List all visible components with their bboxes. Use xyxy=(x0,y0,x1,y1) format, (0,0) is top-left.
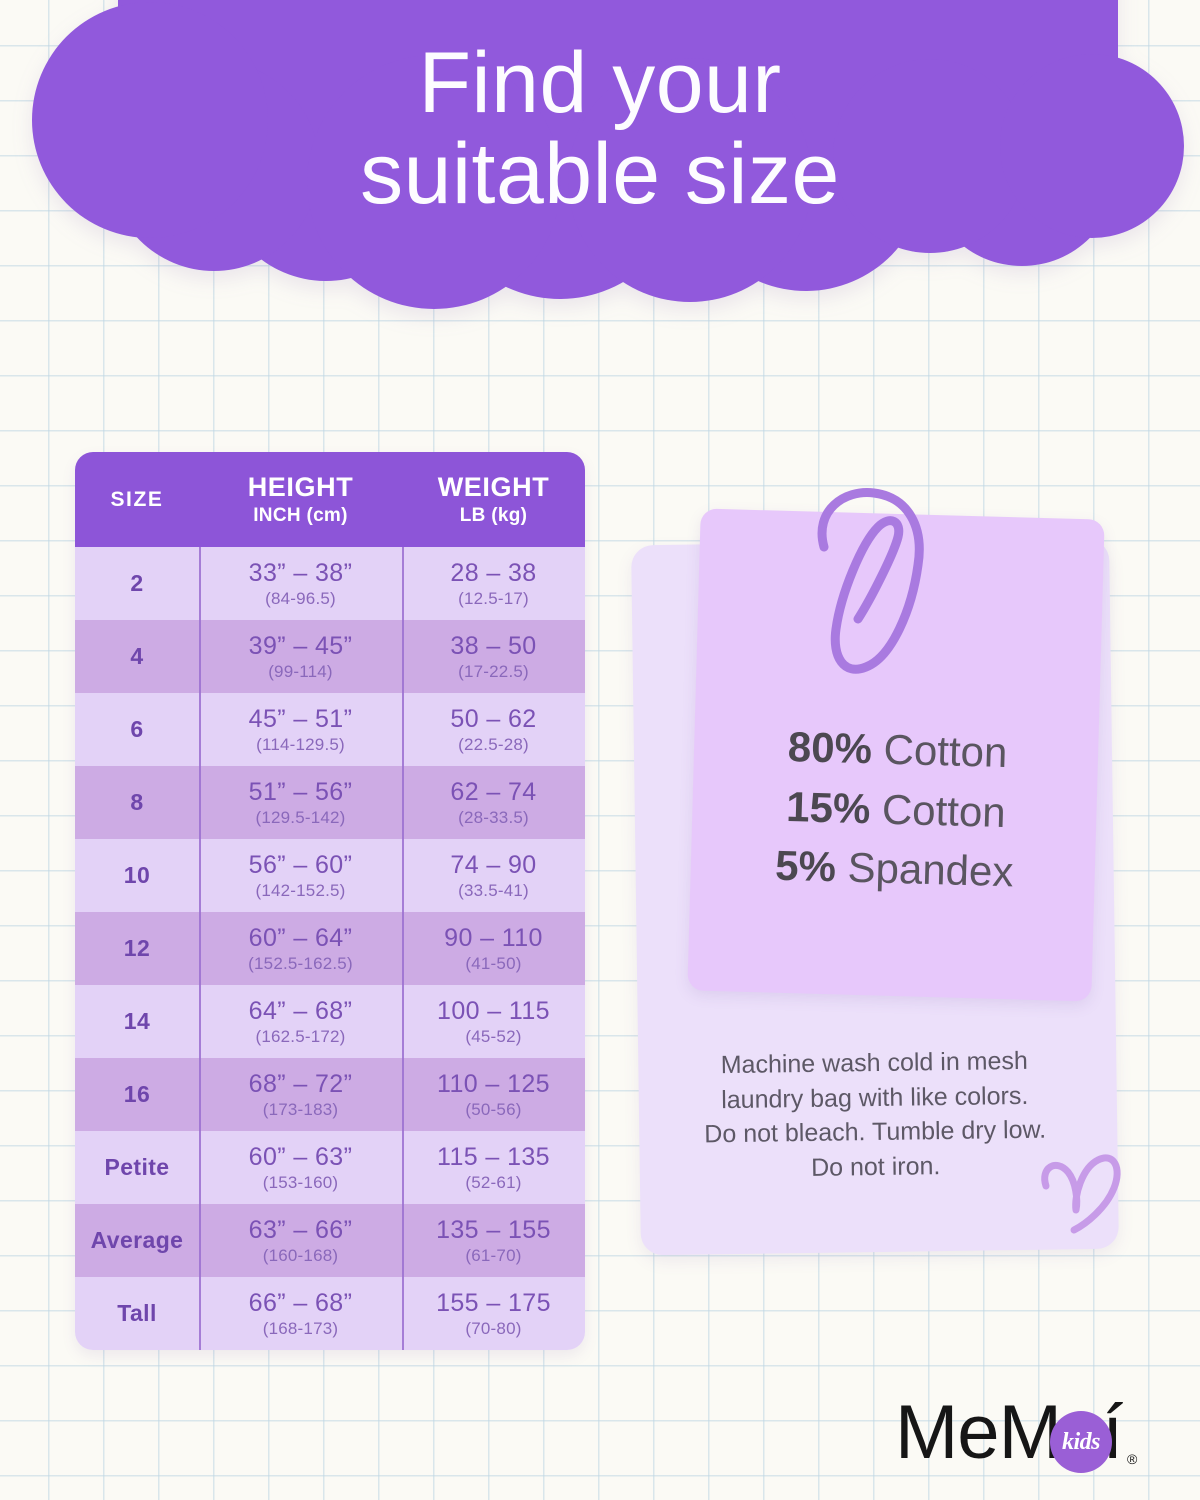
table-header-row: SIZE HEIGHT INCH (cm) WEIGHT LB (kg) xyxy=(75,452,585,547)
height-inches: 60” – 63” xyxy=(249,1143,353,1172)
cell-height: 66” – 68”(168-173) xyxy=(199,1277,402,1350)
table-row: Average63” – 66”(160-168)135 – 155(61-70… xyxy=(75,1204,585,1277)
weight-lb: 155 – 175 xyxy=(436,1289,551,1318)
cell-weight: 74 – 90(33.5-41) xyxy=(402,839,585,912)
weight-lb: 62 – 74 xyxy=(450,778,536,807)
weight-kg: (33.5-41) xyxy=(458,881,529,901)
weight-kg: (45-52) xyxy=(465,1027,521,1047)
size-chart-table: SIZE HEIGHT INCH (cm) WEIGHT LB (kg) 233… xyxy=(75,452,585,1350)
cell-size: 8 xyxy=(75,766,199,839)
weight-lb: 90 – 110 xyxy=(444,924,543,953)
size-label: Average xyxy=(91,1227,184,1254)
brand-logo: MeMoí kids ® xyxy=(895,1385,1145,1481)
table-row: 233” – 38”(84-96.5)28 – 38(12.5-17) xyxy=(75,547,585,620)
cell-height: 33” – 38”(84-96.5) xyxy=(199,547,402,620)
cell-weight: 90 – 110(41-50) xyxy=(402,912,585,985)
height-cm: (173-183) xyxy=(263,1100,339,1120)
fabric-percent: 80% xyxy=(787,723,872,772)
height-inches: 60” – 64” xyxy=(249,924,353,953)
cell-height: 51” – 56”(129.5-142) xyxy=(199,766,402,839)
size-label: 12 xyxy=(124,935,150,962)
weight-lb: 74 – 90 xyxy=(450,851,536,880)
fabric-material: Cotton xyxy=(883,726,1008,776)
size-label: 14 xyxy=(124,1008,150,1035)
cell-height: 60” – 64”(152.5-162.5) xyxy=(199,912,402,985)
weight-kg: (50-56) xyxy=(465,1100,521,1120)
fabric-composition-list: 80% Cotton 15% Cotton 5% Spandex xyxy=(692,714,1101,904)
height-inches: 33” – 38” xyxy=(249,559,353,588)
height-cm: (142-152.5) xyxy=(255,881,345,901)
weight-kg: (61-70) xyxy=(465,1246,521,1266)
weight-kg: (70-80) xyxy=(465,1319,521,1339)
size-label: 4 xyxy=(130,643,143,670)
cell-weight: 62 – 74(28-33.5) xyxy=(402,766,585,839)
size-label: Petite xyxy=(104,1154,169,1181)
size-label: 10 xyxy=(124,862,150,889)
kids-badge-label: kids xyxy=(1062,1429,1100,1456)
table-row: 439” – 45”(99-114)38 – 50(17-22.5) xyxy=(75,620,585,693)
height-cm: (114-129.5) xyxy=(256,735,345,755)
table-row: 1668” – 72”(173-183)110 – 125(50-56) xyxy=(75,1058,585,1131)
height-inches: 64” – 68” xyxy=(249,997,353,1026)
weight-kg: (17-22.5) xyxy=(458,662,529,682)
height-cm: (99-114) xyxy=(268,662,333,682)
fabric-percent: 15% xyxy=(786,783,871,832)
weight-kg: (52-61) xyxy=(465,1173,521,1193)
fabric-line: 15% Cotton xyxy=(693,774,1099,845)
kids-badge: kids xyxy=(1050,1411,1112,1473)
height-inches: 63” – 66” xyxy=(249,1216,353,1245)
size-label: 8 xyxy=(130,789,143,816)
height-cm: (129.5-142) xyxy=(255,808,345,828)
paperclip-icon xyxy=(800,487,960,692)
table-row: 645” – 51”(114-129.5)50 – 62(22.5-28) xyxy=(75,693,585,766)
column-header-weight: WEIGHT LB (kg) xyxy=(402,452,585,547)
weight-lb: 38 – 50 xyxy=(450,632,536,661)
infographic-page: Find your suitable size SIZE HEIGHT INCH… xyxy=(0,0,1200,1500)
cell-size: Petite xyxy=(75,1131,199,1204)
weight-lb: 135 – 155 xyxy=(436,1216,551,1245)
height-inches: 68” – 72” xyxy=(249,1070,353,1099)
cell-size: 12 xyxy=(75,912,199,985)
height-inches: 45” – 51” xyxy=(249,705,353,734)
weight-lb: 50 – 62 xyxy=(450,705,536,734)
fabric-line: 5% Spandex xyxy=(692,834,1098,905)
table-row: Petite60” – 63”(153-160)115 – 135(52-61) xyxy=(75,1131,585,1204)
cell-size: Tall xyxy=(75,1277,199,1350)
cell-size: 6 xyxy=(75,693,199,766)
cell-height: 63” – 66”(160-168) xyxy=(199,1204,402,1277)
height-cm: (152.5-162.5) xyxy=(248,954,353,974)
cell-height: 39” – 45”(99-114) xyxy=(199,620,402,693)
fabric-material: Spandex xyxy=(847,844,1014,896)
weight-lb: 110 – 125 xyxy=(437,1070,550,1099)
weight-kg: (28-33.5) xyxy=(458,808,529,828)
cell-height: 56” – 60”(142-152.5) xyxy=(199,839,402,912)
size-label: Tall xyxy=(117,1300,157,1327)
cell-size: 2 xyxy=(75,547,199,620)
table-row: 1464” – 68”(162.5-172)100 – 115(45-52) xyxy=(75,985,585,1058)
weight-lb: 28 – 38 xyxy=(450,559,536,588)
cell-size: 10 xyxy=(75,839,199,912)
height-cm: (84-96.5) xyxy=(265,589,336,609)
height-cm: (162.5-172) xyxy=(255,1027,345,1047)
height-cm: (168-173) xyxy=(263,1319,339,1339)
weight-lb: 115 – 135 xyxy=(437,1143,550,1172)
table-row: 851” – 56”(129.5-142)62 – 74(28-33.5) xyxy=(75,766,585,839)
cell-height: 45” – 51”(114-129.5) xyxy=(199,693,402,766)
fabric-line: 80% Cotton xyxy=(695,714,1101,785)
size-label: 2 xyxy=(130,570,143,597)
column-header-height: HEIGHT INCH (cm) xyxy=(199,452,402,547)
cell-size: 16 xyxy=(75,1058,199,1131)
heart-icon xyxy=(1034,1148,1130,1249)
height-cm: (160-168) xyxy=(263,1246,339,1266)
cell-weight: 100 – 115(45-52) xyxy=(402,985,585,1058)
column-header-size: SIZE xyxy=(75,452,199,547)
cell-size: 4 xyxy=(75,620,199,693)
height-inches: 66” – 68” xyxy=(249,1289,353,1318)
cell-size: Average xyxy=(75,1204,199,1277)
cell-height: 68” – 72”(173-183) xyxy=(199,1058,402,1131)
height-cm: (153-160) xyxy=(263,1173,339,1193)
cell-weight: 115 – 135(52-61) xyxy=(402,1131,585,1204)
weight-kg: (12.5-17) xyxy=(458,589,529,609)
weight-lb: 100 – 115 xyxy=(437,997,550,1026)
height-inches: 39” – 45” xyxy=(249,632,353,661)
page-title: Find your suitable size xyxy=(0,38,1200,220)
cell-weight: 38 – 50(17-22.5) xyxy=(402,620,585,693)
cell-weight: 110 – 125(50-56) xyxy=(402,1058,585,1131)
height-inches: 56” – 60” xyxy=(249,851,353,880)
table-row: Tall66” – 68”(168-173)155 – 175(70-80) xyxy=(75,1277,585,1350)
cell-weight: 135 – 155(61-70) xyxy=(402,1204,585,1277)
height-inches: 51” – 56” xyxy=(249,778,353,807)
cell-weight: 50 – 62(22.5-28) xyxy=(402,693,585,766)
cell-weight: 28 – 38(12.5-17) xyxy=(402,547,585,620)
size-label: 16 xyxy=(124,1081,150,1108)
cell-weight: 155 – 175(70-80) xyxy=(402,1277,585,1350)
cell-size: 14 xyxy=(75,985,199,1058)
table-row: 1056” – 60”(142-152.5)74 – 90(33.5-41) xyxy=(75,839,585,912)
size-label: 6 xyxy=(130,716,143,743)
weight-kg: (41-50) xyxy=(465,954,521,974)
fabric-percent: 5% xyxy=(775,842,837,891)
table-row: 1260” – 64”(152.5-162.5)90 – 110(41-50) xyxy=(75,912,585,985)
fabric-material: Cotton xyxy=(881,785,1006,835)
registered-mark: ® xyxy=(1127,1451,1137,1467)
cell-height: 60” – 63”(153-160) xyxy=(199,1131,402,1204)
weight-kg: (22.5-28) xyxy=(458,735,529,755)
table-body: 233” – 38”(84-96.5)28 – 38(12.5-17)439” … xyxy=(75,547,585,1350)
cell-height: 64” – 68”(162.5-172) xyxy=(199,985,402,1058)
